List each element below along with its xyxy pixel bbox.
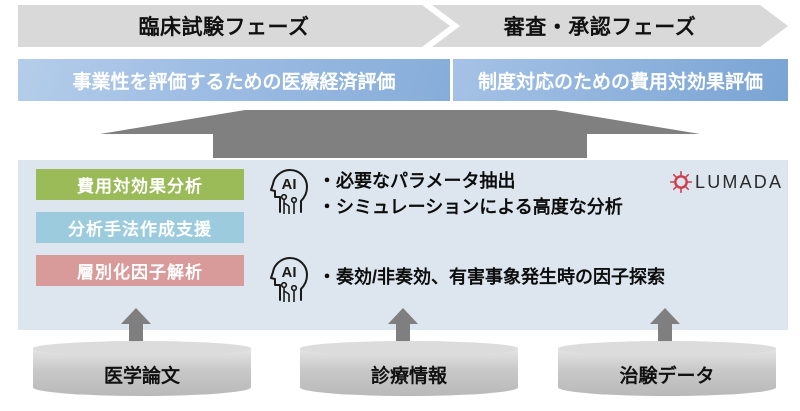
- phase-arrow-clinical-trial-label: 臨床試験フェーズ: [139, 11, 310, 41]
- data-source-medical-papers: 医学論文: [33, 341, 251, 403]
- ai-head-icon: AI: [270, 168, 310, 214]
- diagram-canvas: 臨床試験フェーズ 審査・承認フェーズ 事業性を評価するための医療経済評価 制度対…: [0, 0, 800, 411]
- eval-bar-regulatory-response-label: 制度対応のための費用対効果評価: [478, 67, 763, 94]
- lumada-logo: LUMADA: [670, 171, 783, 193]
- data-source-trial-data: 治験データ: [558, 341, 776, 403]
- data-source-medical-papers-label: 医学論文: [33, 353, 251, 395]
- ai-head-icon-text: AI: [282, 176, 297, 193]
- down-arrow-icon: [100, 110, 700, 158]
- ai-head-icon-text: AI: [282, 264, 297, 281]
- ai-bullet-1-2: ・シミュレーションによる高度な分析: [318, 194, 623, 220]
- category-analysis-method-support-label: 分析手法作成支援: [68, 215, 212, 240]
- category-analysis-method-support: 分析手法作成支援: [36, 212, 244, 243]
- eval-bar-business-feasibility: 事業性を評価するための医療経済評価: [18, 59, 450, 101]
- data-source-clinical-records-label: 診療情報: [300, 353, 518, 395]
- ai-head-icon: AI: [270, 256, 310, 302]
- phase-arrow-clinical-trial: 臨床試験フェーズ: [18, 5, 450, 47]
- lumada-wordmark: LUMADA: [695, 172, 783, 193]
- category-cost-effectiveness-analysis-label: 費用対効果分析: [77, 172, 203, 197]
- category-cost-effectiveness-analysis: 費用対効果分析: [36, 169, 244, 200]
- ai-bullet-1-1: ・必要なパラメータ抽出: [318, 168, 623, 194]
- category-stratification-factor-analysis: 層別化因子解析: [36, 255, 244, 286]
- analysis-panel: 費用対効果分析 分析手法作成支援 層別化因子解析 AI ・必要なパラメータ抽出 …: [18, 160, 788, 330]
- category-stratification-factor-analysis-label: 層別化因子解析: [77, 258, 203, 283]
- data-source-trial-data-label: 治験データ: [558, 353, 776, 395]
- eval-bar-regulatory-response: 制度対応のための費用対効果評価: [453, 59, 788, 101]
- eval-bar-business-feasibility-label: 事業性を評価するための医療経済評価: [72, 67, 395, 94]
- ai-bullet-2-1: ・奏効/非奏効、有害事象発生時の因子探索: [318, 264, 665, 290]
- data-source-clinical-records: 診療情報: [300, 341, 518, 403]
- ai-bullets-group-1: ・必要なパラメータ抽出 ・シミュレーションによる高度な分析: [318, 168, 623, 220]
- ai-bullets-group-2: ・奏効/非奏効、有害事象発生時の因子探索: [318, 264, 665, 290]
- phase-arrow-review-approval: 審査・承認フェーズ: [432, 5, 788, 47]
- phase-arrow-review-approval-label: 審査・承認フェーズ: [504, 11, 696, 41]
- lumada-sunburst-icon: [670, 171, 692, 193]
